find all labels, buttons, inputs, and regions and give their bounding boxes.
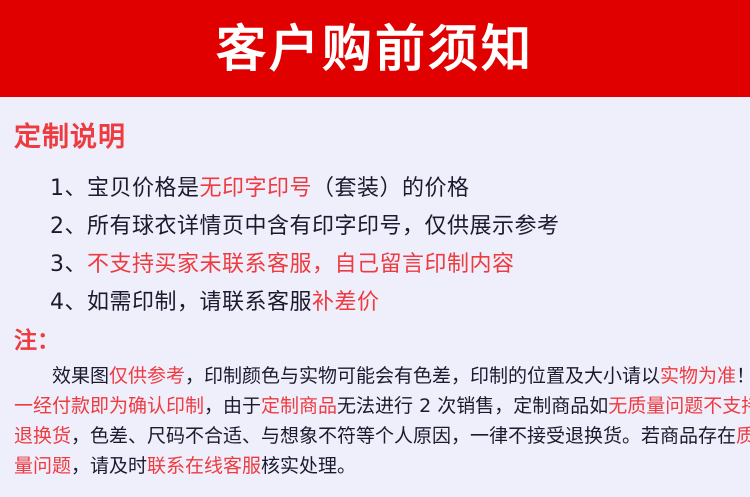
list-item: 2、所有球衣详情页中含有印字印号，仅供展示参考 — [50, 208, 740, 246]
list-item-index: 2、 — [50, 214, 87, 239]
highlighted-text: 仅供参考 — [109, 365, 185, 387]
plain-text: ，由于 — [204, 395, 261, 417]
note-line: 退换货，色差、尺码不合适、与想象不符等个人原因，一律不接受退换货。若商品存在质 — [14, 421, 740, 451]
page-title: 客户购前须知 — [216, 24, 534, 74]
highlighted-text: 一经付款即为确认印制 — [14, 395, 204, 417]
section-heading-custom-instructions: 定制说明 — [14, 120, 126, 155]
note-line: 一经付款即为确认印制，由于定制商品无法进行 2 次销售，定制商品如无质量问题不支… — [14, 391, 740, 421]
highlighted-text: 量问题 — [14, 455, 71, 477]
highlighted-text: 联系在线客服 — [147, 455, 261, 477]
list-item-index: 3、 — [50, 252, 87, 277]
plain-text: ，色差、尺码不合适、与想象不符等个人原因，一律不接受退换货。若商品存在 — [71, 425, 736, 447]
plain-text: 如需印制，请联系客服 — [87, 290, 312, 315]
list-item: 1、宝贝价格是无印字印号（套装）的价格 — [50, 170, 740, 208]
note-line: 量问题，请及时联系在线客服核实处理。 — [14, 451, 740, 481]
plain-text: ，请及时 — [71, 455, 147, 477]
plain-text: 核实处理。 — [261, 455, 356, 477]
plain-text: 效果图 — [52, 365, 109, 387]
highlighted-text: 定制商品 — [261, 395, 337, 417]
notice-page: 客户购前须知 定制说明 1、宝贝价格是无印字印号（套装）的价格2、所有球衣详情页… — [0, 0, 750, 497]
highlighted-text: 质 — [736, 425, 750, 447]
plain-text: 无法进行 2 次销售，定制商品如 — [337, 395, 608, 417]
highlighted-text: 无质量问题不支持 — [608, 395, 750, 417]
note-line: 效果图仅供参考，印制颜色与实物可能会有色差，印制的位置及大小请以实物为准！ — [14, 361, 740, 391]
highlighted-text: 实物为准 — [660, 365, 736, 387]
highlighted-text: 不支持买家未联系客服，自己留言印制内容 — [87, 252, 515, 277]
note-label: 注： — [14, 328, 60, 356]
list-item-index: 4、 — [50, 290, 87, 315]
plain-text: 宝贝价格是 — [87, 176, 200, 201]
plain-text: （套装）的价格 — [312, 176, 470, 201]
note-paragraph: 效果图仅供参考，印制颜色与实物可能会有色差，印制的位置及大小请以实物为准！一经付… — [14, 361, 740, 481]
plain-text: ，印制颜色与实物可能会有色差，印制的位置及大小请以 — [185, 365, 660, 387]
list-item-index: 1、 — [50, 176, 87, 201]
plain-text: ！ — [736, 365, 750, 387]
custom-instruction-list: 1、宝贝价格是无印字印号（套装）的价格2、所有球衣详情页中含有印字印号，仅供展示… — [50, 170, 740, 322]
list-item: 3、不支持买家未联系客服，自己留言印制内容 — [50, 246, 740, 284]
highlighted-text: 退换货 — [14, 425, 71, 447]
highlighted-text: 补差价 — [312, 290, 380, 315]
plain-text: 所有球衣详情页中含有印字印号，仅供展示参考 — [87, 214, 560, 239]
highlighted-text: 无印字印号 — [200, 176, 313, 201]
header-banner: 客户购前须知 — [0, 0, 750, 97]
list-item: 4、如需印制，请联系客服补差价 — [50, 284, 740, 322]
